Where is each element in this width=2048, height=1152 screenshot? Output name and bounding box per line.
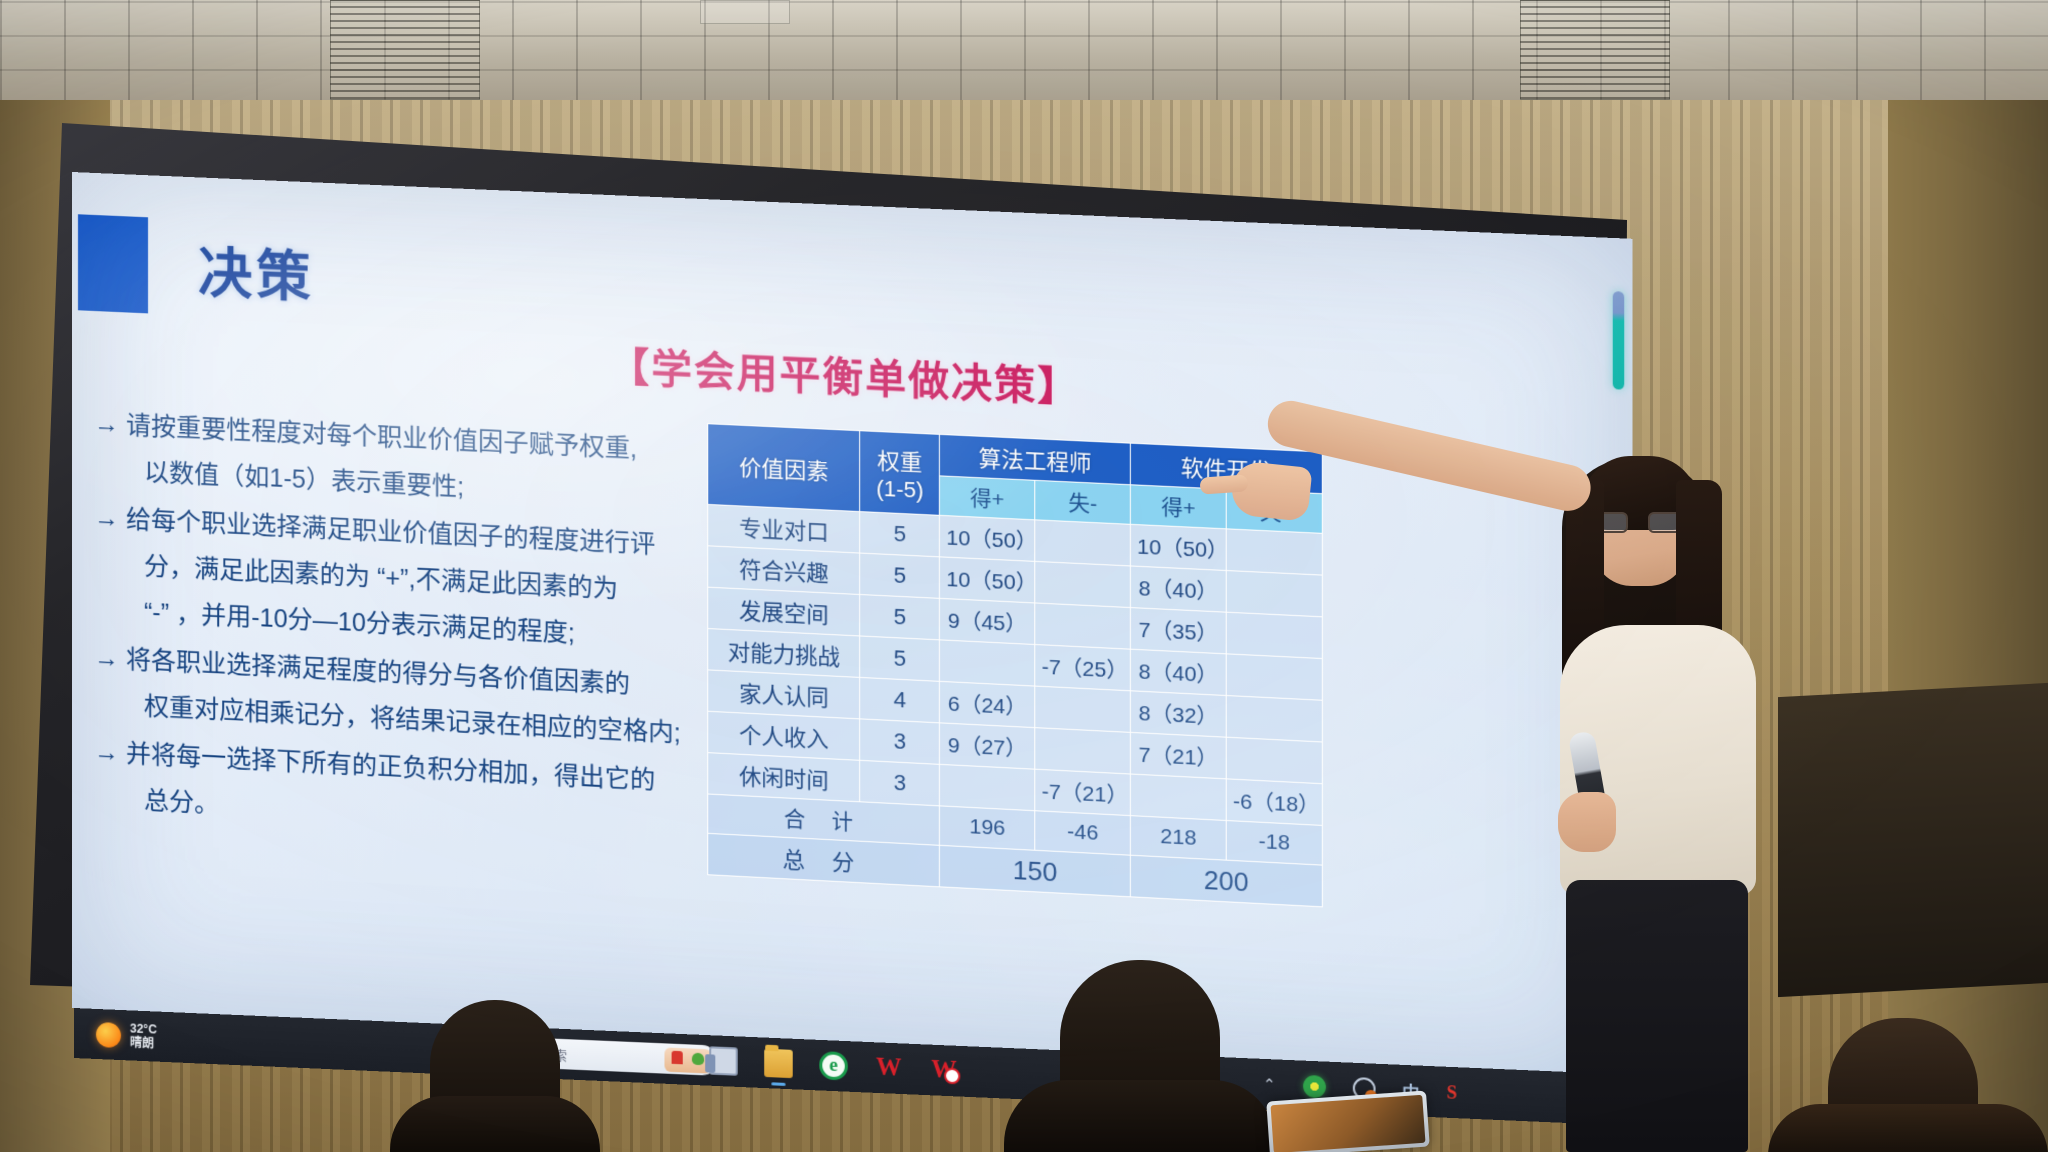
cell-a-gain [940, 640, 1035, 686]
task-view-icon[interactable] [709, 1046, 737, 1075]
cell-b-gain: 8（40） [1130, 566, 1226, 612]
cell-b-loss [1226, 654, 1322, 700]
arrow-icon: → [94, 729, 126, 823]
cell-b-gain: 7（21） [1130, 732, 1226, 778]
cell-factor: 发展空间 [708, 587, 860, 636]
running-indicator [771, 1082, 785, 1086]
cell-weight: 5 [860, 636, 940, 681]
cell-b-loss [1226, 696, 1322, 742]
col-header-factor: 价值因素 [708, 424, 860, 512]
weather-widget[interactable]: 32°C 晴朗 [96, 1020, 157, 1051]
file-explorer-icon[interactable] [764, 1049, 793, 1079]
audience-member [1060, 960, 1220, 1152]
antivirus-icon[interactable] [1303, 1075, 1326, 1098]
cell-a-loss [1035, 520, 1131, 566]
ceiling-fixture [700, 0, 790, 24]
cell-sum-b-loss: -18 [1226, 821, 1322, 866]
sogou-ime-icon[interactable]: S [1447, 1082, 1457, 1104]
subcol-a-loss: 失- [1035, 480, 1131, 524]
audience-member [1828, 1018, 1978, 1152]
edge-browser-icon[interactable]: e [819, 1051, 848, 1081]
weight-range: (1-5) [867, 475, 933, 504]
wps-writer-icon[interactable]: W [874, 1053, 903, 1083]
ceiling [0, 0, 2048, 105]
presenter-lower-body [1566, 880, 1748, 1152]
weather-temperature: 32°C [130, 1021, 157, 1036]
presentation-slide: 决策 【学会用平衡单做决策】 → 请按重要性程度对每个职业价值因子赋予权重, 以… [72, 172, 1633, 1093]
cell-sum-a-loss: -46 [1035, 811, 1131, 855]
cell-a-loss [1035, 728, 1131, 774]
cell-weight: 3 [860, 719, 940, 764]
ceiling-vent-right [1520, 0, 1670, 100]
slide-canvas: 决策 【学会用平衡单做决策】 → 请按重要性程度对每个职业价值因子赋予权重, 以… [72, 172, 1633, 1093]
presenter-glasses [1592, 512, 1688, 534]
cell-a-gain: 9（45） [940, 598, 1035, 644]
slide-title-row: 决策 [78, 214, 315, 321]
cell-b-loss [1226, 737, 1322, 784]
subcol-a-gain: 得+ [940, 476, 1035, 520]
cell-b-loss [1226, 571, 1322, 617]
smartboard-display[interactable]: 决策 【学会用平衡单做决策】 → 请按重要性程度对每个职业价值因子赋予权重, 以… [72, 172, 1633, 1093]
ceiling-vent-left [330, 0, 480, 100]
col-header-weight: 权重 (1-5) [860, 431, 940, 516]
wps-presentation-icon[interactable]: W [930, 1056, 959, 1086]
cell-a-loss [1035, 561, 1131, 607]
cell-a-gain: 10（50） [940, 515, 1035, 561]
sun-icon [96, 1021, 121, 1047]
cell-weight: 5 [860, 553, 940, 598]
bullet-text: 给每个职业选择满足职业价值因子的程度进行评 分，满足此因素的为 “+”,不满足此… [126, 497, 699, 663]
table-body: 专业对口 5 10（50） 10（50） 符合兴趣 5 10（50） [708, 504, 1323, 906]
cell-b-gain: 10（50） [1130, 524, 1226, 570]
cell-b-loss [1226, 529, 1322, 575]
cell-weight: 5 [860, 595, 940, 640]
cell-a-gain: 10（50） [940, 557, 1035, 603]
cell-b-gain: 7（35） [1130, 608, 1226, 654]
cell-weight: 3 [860, 760, 940, 806]
bullet-list: → 请按重要性程度对每个职业价值因子赋予权重, 以数值（如1-5）表示重要性; … [94, 401, 699, 855]
weather-condition: 晴朗 [130, 1035, 157, 1050]
arrow-icon: → [94, 401, 126, 495]
page-title: 决策 [198, 228, 315, 312]
weight-label: 权重 [867, 442, 933, 477]
cell-total-b: 200 [1130, 855, 1322, 907]
weather-text: 32°C 晴朗 [130, 1021, 157, 1050]
cell-a-loss [1035, 603, 1131, 649]
cell-a-loss [1035, 686, 1131, 732]
cell-sum-a-gain: 196 [940, 806, 1035, 850]
cell-b-loss [1226, 612, 1322, 658]
chevron-up-icon[interactable]: ⌃ [1263, 1075, 1276, 1094]
cell-b-gain: 8（32） [1130, 691, 1226, 737]
taskbar-app-icons: e W W [709, 1046, 958, 1085]
presenter-mic-hand [1558, 792, 1616, 852]
balance-sheet-table: 价值因素 权重 (1-5) 算法工程师 软件开发 得+ 失- 得+ [707, 423, 1323, 907]
cell-weight: 4 [860, 677, 940, 722]
cell-a-loss: -7（21） [1035, 769, 1131, 815]
list-item: → 给每个职业选择满足职业价值因子的程度进行评 分，满足此因素的为 “+”,不满… [94, 495, 699, 663]
smartphone [1266, 1090, 1430, 1152]
cell-total-a: 150 [940, 845, 1131, 896]
cell-factor: 符合兴趣 [708, 546, 860, 595]
cell-factor: 专业对口 [708, 504, 860, 553]
cell-a-gain: 6（24） [940, 681, 1035, 727]
cell-a-gain [940, 764, 1035, 810]
cell-weight: 5 [860, 512, 940, 557]
audience-member [430, 1000, 560, 1152]
balance-sheet-table-wrapper: 价值因素 权重 (1-5) 算法工程师 软件开发 得+ 失- 得+ [707, 423, 1323, 907]
presenter [1500, 440, 1830, 1152]
cell-b-gain: 8（40） [1130, 649, 1226, 695]
cell-b-loss: -6（18） [1226, 779, 1322, 826]
arrow-icon: → [94, 635, 126, 729]
title-accent-block [78, 214, 148, 313]
wall-right-edge [1888, 100, 2048, 1152]
cell-b-gain [1130, 774, 1226, 821]
cell-a-loss: -7（25） [1035, 645, 1131, 691]
arrow-icon: → [94, 495, 126, 635]
cell-sum-b-gain: 218 [1130, 816, 1226, 861]
cell-a-gain: 9（27） [940, 723, 1035, 769]
slide-scrollbar[interactable] [1613, 291, 1624, 390]
presenter-pointing-finger [1199, 474, 1248, 494]
